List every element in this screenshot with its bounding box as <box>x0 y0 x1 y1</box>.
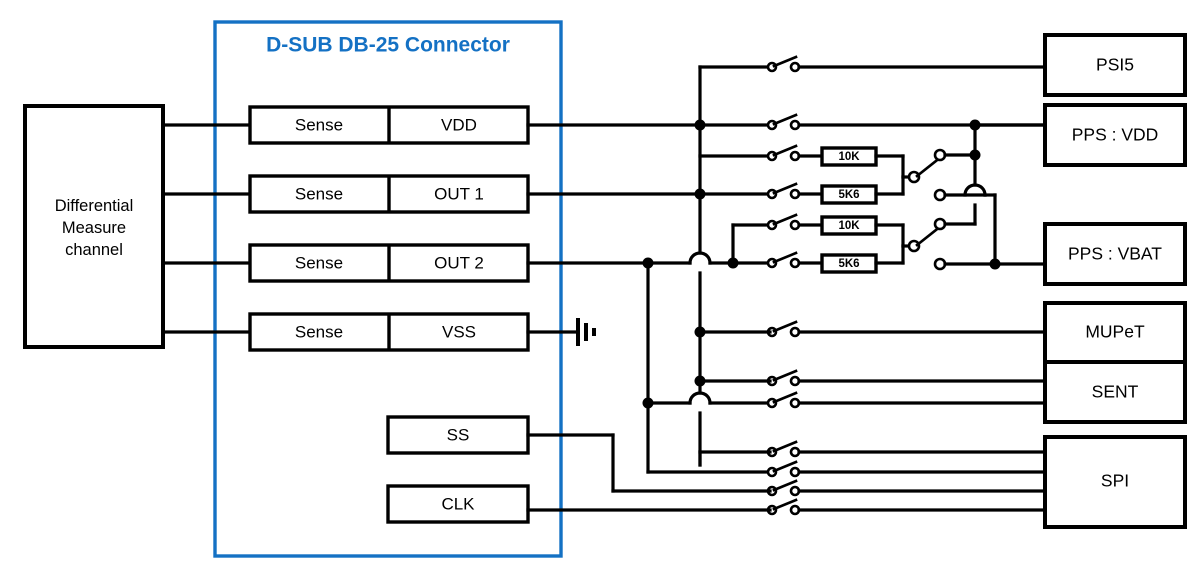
junction-out2-spi <box>643 258 654 269</box>
pin-label-clk: CLK <box>441 494 475 513</box>
switch-psi5[interactable] <box>768 57 1045 71</box>
junction-sent2 <box>643 398 654 409</box>
connector-pin-ss: SS <box>388 417 528 453</box>
pin-sense-label-vdd: Sense <box>295 115 343 134</box>
switch-pps-vdd[interactable] <box>768 115 1045 129</box>
wire-hop-out2 <box>690 253 710 263</box>
resistor-value-3: 10K <box>838 220 860 232</box>
junction-sent1 <box>695 376 706 387</box>
dsub-connector-enclosure <box>215 22 561 556</box>
resistor-10k-bottom: 10K <box>822 217 912 246</box>
switch-spi-2[interactable] <box>768 462 1045 476</box>
switch-res-5k6-bottom[interactable] <box>768 253 822 267</box>
junction-mupet <box>695 327 706 338</box>
device-label-spi: SPI <box>1101 471 1129 491</box>
device-psi5: PSI5 <box>1045 35 1185 95</box>
device-spi: SPI <box>1045 437 1185 527</box>
connector-pin-clk: CLK <box>388 486 528 522</box>
pin-sense-label-vss: Sense <box>295 322 343 341</box>
pin-label-ss: SS <box>447 425 470 444</box>
junction-vbat-rail <box>990 259 1001 270</box>
measure-channel-line-3: channel <box>65 241 123 259</box>
pin-sense-label-out2: Sense <box>295 253 343 272</box>
junction-out2-branch <box>728 258 739 269</box>
switch-res-5k6-top[interactable] <box>768 184 822 198</box>
pin-signal-label-vdd: VDD <box>441 115 477 134</box>
measure-channel-line-2: Measure <box>62 219 126 237</box>
connector-pin-out1: Sense OUT 1 <box>250 176 528 212</box>
connector-pin-out2: Sense OUT 2 <box>250 245 528 281</box>
junction-vdd-bus <box>695 120 706 131</box>
spdt-switch-lower[interactable] <box>909 219 995 269</box>
switch-res-10k-bottom[interactable] <box>768 215 822 229</box>
switch-spi-3[interactable] <box>768 481 1045 495</box>
circuit-diagram-canvas: D-SUB DB-25 Connector Differential Measu… <box>0 0 1200 565</box>
pin-signal-label-vss: VSS <box>442 322 476 341</box>
device-label-pps-vbat: PPS : VBAT <box>1068 244 1162 264</box>
switch-sent-1[interactable] <box>768 371 1045 385</box>
schematic-svg: D-SUB DB-25 Connector Differential Measu… <box>0 0 1200 565</box>
resistor-5k6-top: 5K6 <box>822 177 903 203</box>
device-label-psi5: PSI5 <box>1096 55 1134 75</box>
pin-signal-label-out1: OUT 1 <box>434 184 484 203</box>
device-label-mupet: MUPeT <box>1085 322 1145 342</box>
resistor-value-4: 5K6 <box>838 258 859 270</box>
resistor-value-1: 10K <box>838 151 860 163</box>
junction-vdd-rail <box>970 120 981 131</box>
resistor-value-2: 5K6 <box>838 189 859 201</box>
device-label-pps-vdd: PPS : VDD <box>1072 125 1159 145</box>
device-pps-vdd: PPS : VDD <box>1045 105 1185 165</box>
switch-spi-1[interactable] <box>768 442 1045 456</box>
resistor-10k-top: 10K <box>822 148 912 177</box>
switch-res-10k-top[interactable] <box>768 146 822 160</box>
connector-pin-vss: Sense VSS <box>250 314 528 350</box>
device-mupet: MUPeT <box>1045 303 1185 362</box>
wire-hop-sent2 <box>690 393 710 403</box>
pin-sense-label-out1: Sense <box>295 184 343 203</box>
junction-out1-bus <box>695 189 706 200</box>
device-pps-vbat: PPS : VBAT <box>1045 224 1185 284</box>
measure-channel-line-1: Differential <box>55 197 134 215</box>
device-label-sent: SENT <box>1092 382 1139 402</box>
resistor-5k6-bottom: 5K6 <box>822 246 903 272</box>
junction-vdd-rail-throw <box>970 150 981 161</box>
pin-signal-label-out2: OUT 2 <box>434 253 484 272</box>
connector-pin-vdd: Sense VDD <box>250 107 528 143</box>
switch-spi-4[interactable] <box>768 500 1045 514</box>
device-sent: SENT <box>1045 362 1185 422</box>
switch-mupet[interactable] <box>768 322 1045 336</box>
switch-sent-2[interactable] <box>768 393 1045 407</box>
dsub-connector-title: D-SUB DB-25 Connector <box>266 34 510 57</box>
